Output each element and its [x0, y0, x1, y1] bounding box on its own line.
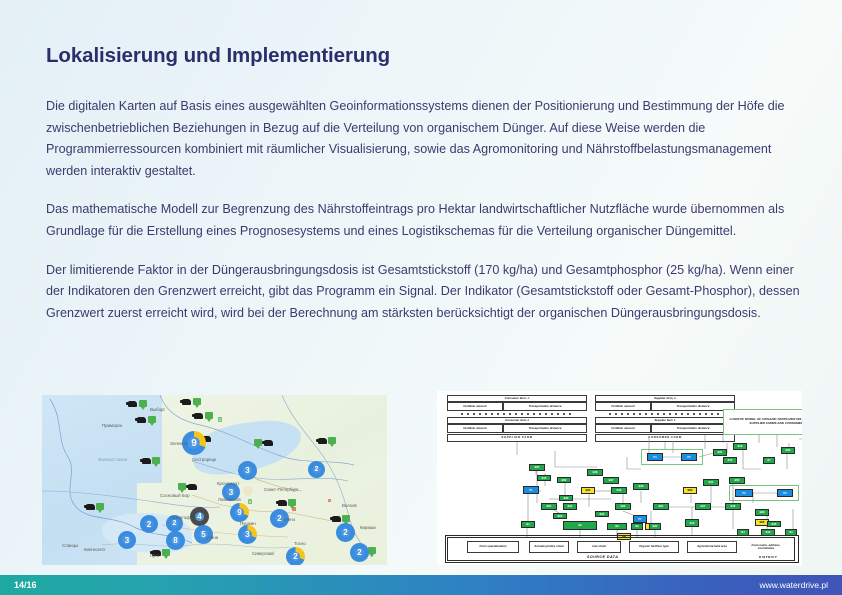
source-box-farm-specialisation: Farm specialisation — [467, 541, 519, 553]
map-cluster-marker[interactable]: 4 — [190, 507, 209, 526]
poi-pin — [96, 503, 104, 510]
cluster-count: 3 — [245, 530, 249, 539]
diagram-node: B6 — [563, 521, 597, 530]
map-cluster-marker[interactable]: 3 — [238, 525, 257, 544]
source-box-fertilizer-type: Organic fertilizer type — [629, 541, 679, 553]
poi-pin — [205, 412, 213, 419]
poi-pin — [368, 547, 376, 554]
cow-icon — [86, 504, 95, 510]
map-place-label: Кингисепп — [84, 547, 105, 552]
slide-footer: 14/16 www.waterdrive.pl — [0, 575, 842, 595]
cow-icon — [188, 484, 197, 490]
cluster-count: 3 — [245, 466, 249, 475]
map-cluster-marker[interactable]: 8 — [166, 531, 185, 550]
map-place-label: Ломоносов — [218, 497, 241, 502]
map-cluster-marker[interactable]: 3 — [238, 461, 257, 480]
diagram-node: B53 — [553, 513, 567, 519]
cluster-count: 9 — [237, 508, 241, 517]
cow-icon — [318, 438, 327, 444]
diagram-node: B43 — [595, 511, 609, 517]
poi-pin — [342, 515, 350, 522]
cow-icon — [182, 399, 191, 405]
diagram-node: B45 — [767, 521, 781, 527]
map-place-label: Выборг — [150, 407, 165, 412]
diagram-node: B18 — [725, 503, 741, 510]
poi-pin — [178, 483, 186, 490]
cow-icon — [142, 458, 151, 464]
map-place-label: Приморск — [102, 423, 122, 428]
paragraph-2: Das mathematische Modell zur Begrenzung … — [46, 199, 806, 242]
paragraph-1: Die digitalen Karten auf Basis eines aus… — [46, 96, 806, 182]
cluster-count: 3 — [229, 488, 233, 497]
cow-icon — [278, 500, 287, 506]
diagram-node: B3 — [607, 523, 627, 530]
diagram-node: B1 — [521, 521, 535, 528]
poi-pin — [254, 439, 262, 446]
diagram-node: B48 — [587, 469, 603, 476]
diagram-node: P5 — [681, 453, 697, 461]
map-place-label: Сестрорецк — [192, 457, 216, 462]
footer-url: www.waterdrive.pl — [760, 580, 829, 590]
poi-pin — [139, 400, 147, 407]
cluster-count: 3 — [125, 536, 129, 545]
cluster-count: 2 — [343, 528, 347, 537]
diagram-node: B30 — [781, 447, 795, 454]
presentation-slide: Lokalisierung und Implementierung Die di… — [0, 0, 842, 595]
diagram-node: B21 — [649, 523, 661, 530]
map-badge: 5 — [218, 417, 222, 422]
poi-pin — [193, 398, 201, 405]
map-place-label: Луга — [150, 553, 159, 558]
map-place-label: Волхов — [342, 503, 357, 508]
source-box-land-area: Agricultural land area — [687, 541, 737, 553]
poi-pin — [162, 549, 170, 556]
cow-icon — [264, 440, 273, 446]
diagram-node: B52 — [557, 477, 571, 483]
map-place-label: Сланцы — [62, 543, 78, 548]
diagram-node: B17 — [695, 503, 711, 510]
map-place-label: Тосно — [294, 541, 306, 546]
map-cluster-marker[interactable]: 2 — [350, 543, 369, 562]
poi-pin — [288, 499, 296, 506]
diagram-node: B7 — [763, 457, 775, 464]
cluster-count: 8 — [173, 536, 177, 545]
map-place-label: Пушкин — [240, 521, 256, 526]
source-box-animal-poultry-stock: Animal/ poultry stock — [529, 541, 569, 553]
diagram-node: B9 — [631, 523, 643, 530]
diagram-node: B44 — [563, 503, 577, 510]
cluster-count: 5 — [201, 530, 205, 539]
diagram-node: B14 — [703, 479, 719, 486]
diagram-node: B33 — [559, 495, 573, 501]
map-cluster-marker[interactable]: 9 — [230, 503, 249, 522]
poi-pin — [152, 457, 160, 464]
map-label-sea: Финский залив — [98, 457, 127, 462]
cow-icon — [128, 401, 137, 407]
diagram-node: P1 — [523, 486, 539, 494]
diagram-node: B27 — [541, 503, 557, 510]
cluster-count: 4 — [197, 512, 201, 521]
diagram-node: B15 — [537, 475, 551, 481]
diagram-node: P2 — [735, 489, 753, 497]
diagram-node: B13 — [685, 519, 699, 527]
source-box-cow-stock: cow stock — [577, 541, 621, 553]
paragraph-3: Der limitierende Faktor in der Düngeraus… — [46, 260, 806, 325]
map-cluster-marker[interactable]: 2 — [308, 461, 325, 478]
map-place-label: Сосновый Бор — [160, 493, 190, 498]
map-cluster-marker[interactable]: 3 — [118, 531, 136, 549]
diagram-node: B38 — [755, 509, 769, 516]
map-cluster-marker[interactable]: 2 — [336, 523, 355, 542]
source-box-farm-address: Farm name, address, coordinates — [743, 541, 789, 553]
diagram-node: P4 — [647, 453, 663, 461]
page-number: 14/16 — [14, 580, 37, 590]
cluster-count: 2 — [315, 466, 319, 473]
map-image: Финский залив 5 8 9323492223583222 — [42, 395, 387, 565]
poi-pin — [148, 416, 156, 423]
page-title: Lokalisierung und Implementierung — [46, 44, 390, 68]
logistic-model-diagram: Consumer farm, n Fertilizer amount Trans… — [437, 391, 802, 565]
body-text: Die digitalen Karten auf Basis eines aus… — [46, 96, 806, 324]
map-place-label: Кронштадт — [217, 481, 239, 486]
cow-icon — [332, 516, 341, 522]
cluster-count: 2 — [293, 552, 297, 561]
diagram-node: B49 — [633, 483, 649, 490]
diagram-node: B15 — [723, 457, 737, 464]
map-cluster-marker[interactable]: 2 — [286, 547, 305, 565]
map-cluster-marker[interactable]: 2 — [140, 515, 158, 533]
diagram-node: B34 — [653, 503, 669, 510]
cow-icon — [137, 417, 146, 423]
diagram-node: B22 — [615, 503, 631, 510]
cluster-count: 2 — [147, 520, 151, 529]
district-label: DISTRICT — [759, 555, 777, 559]
map-place-label: Санкт-Петербург — [264, 487, 298, 492]
cluster-count: 9 — [191, 438, 197, 449]
poi-pin — [328, 437, 336, 444]
cluster-count: 2 — [277, 514, 281, 523]
map-place-label: Сиверский — [252, 551, 274, 556]
cow-icon — [194, 413, 203, 419]
diagram-node: B31 — [713, 449, 727, 456]
cluster-count: 2 — [173, 520, 177, 527]
cluster-count: 2 — [357, 548, 361, 557]
diagram-node: B47 — [603, 477, 619, 484]
diagram-node: B06 — [529, 464, 545, 471]
diagram-node: P3 — [777, 489, 793, 497]
map-badge: 8 — [248, 499, 252, 504]
diagram-node: B05 — [581, 487, 595, 494]
diagram-node: B50 — [729, 477, 745, 484]
diagram-node: B10 — [733, 443, 747, 450]
diagram-node: P7 — [633, 515, 647, 523]
source-data-label: SOURCE DATA — [587, 555, 618, 559]
map-place-label: Кириши — [360, 525, 376, 530]
diagram-node: B09 — [683, 487, 697, 494]
diagram-node: B16 — [611, 487, 627, 494]
